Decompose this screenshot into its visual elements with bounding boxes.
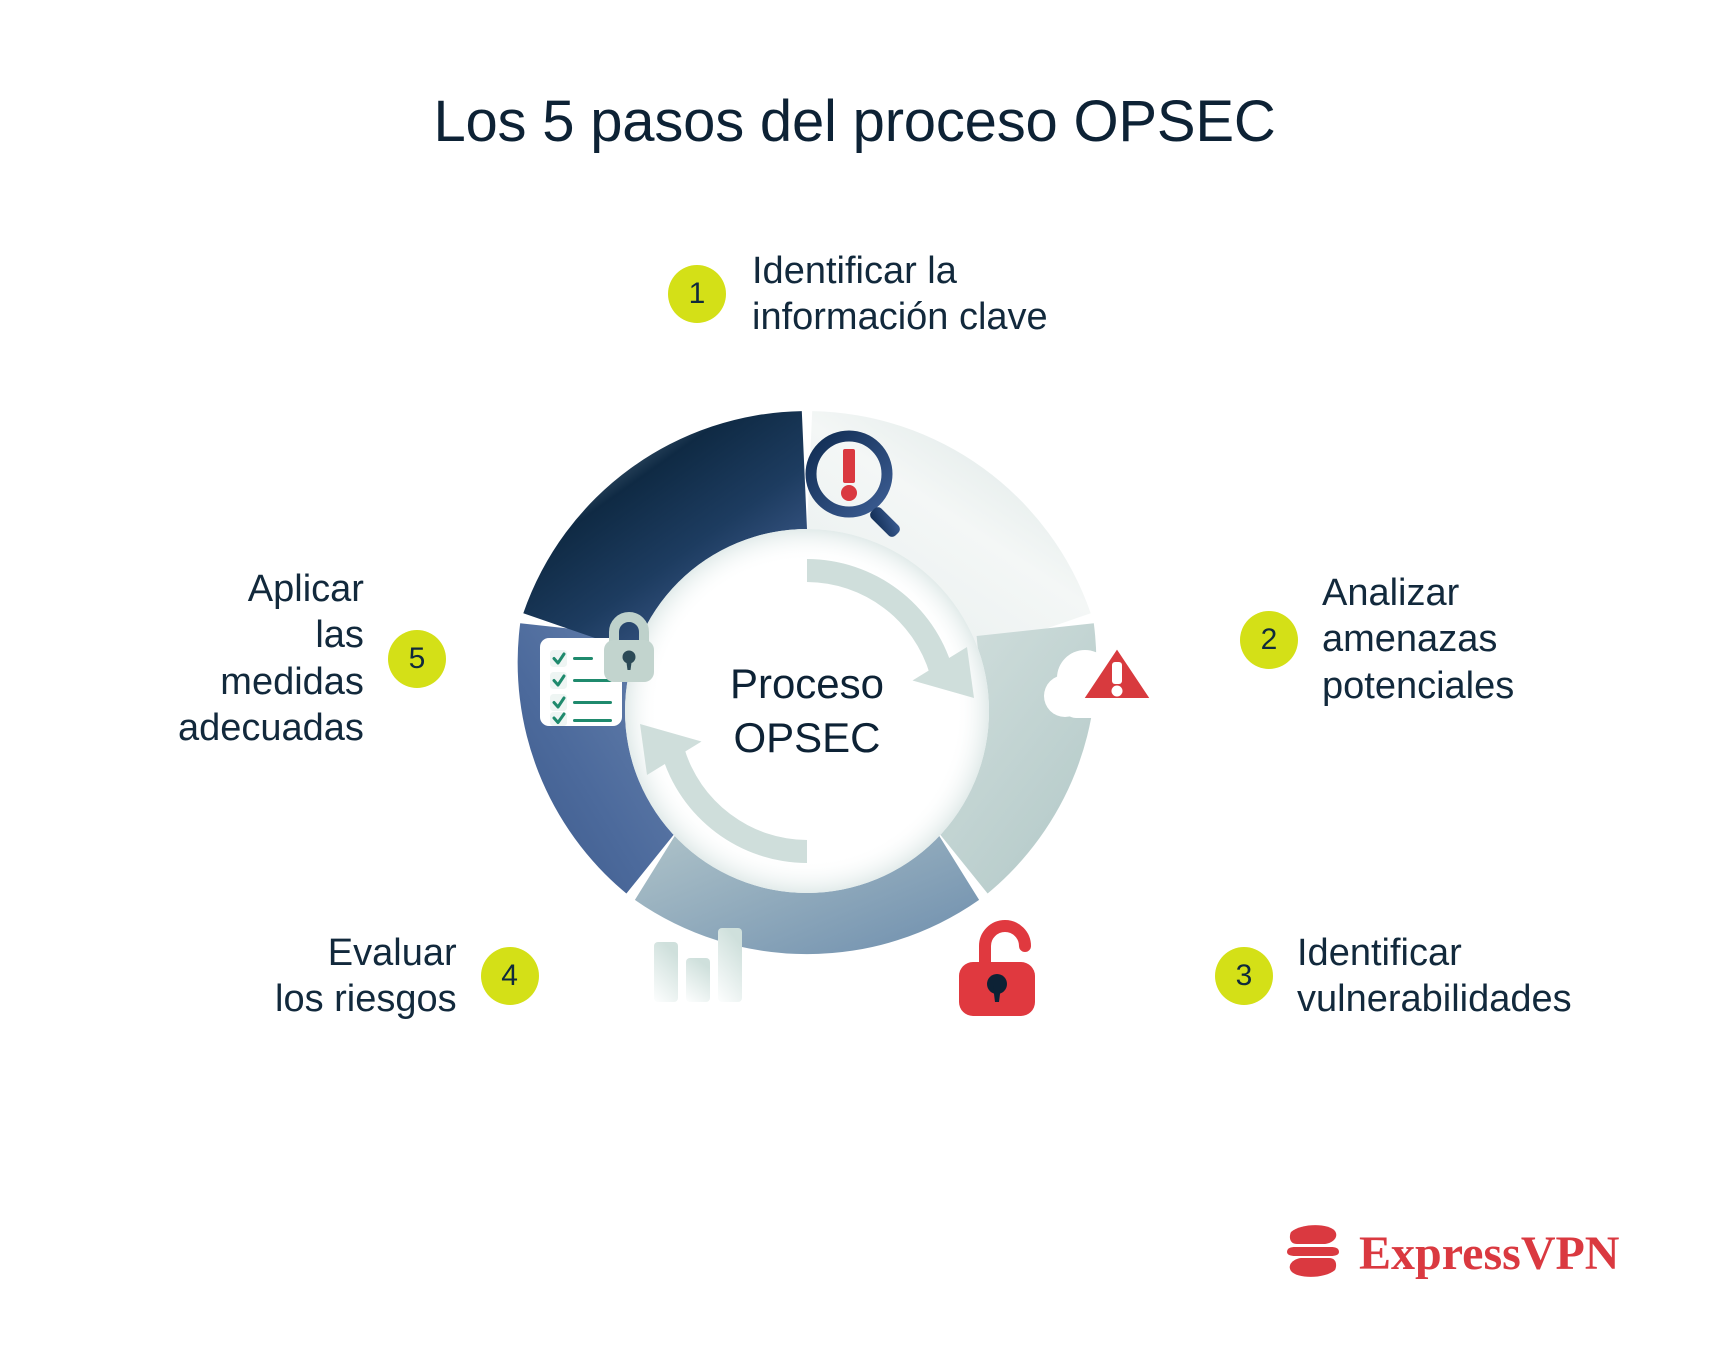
- page-title: Los 5 pasos del proceso OPSEC: [0, 88, 1709, 155]
- step-badge-5: 5: [388, 630, 446, 688]
- expressvpn-logo[interactable]: ExpressVPN: [1281, 1222, 1619, 1285]
- step-label-1: Identificar la información clave: [752, 248, 1048, 341]
- step-item-5[interactable]: Aplicar las medidas adecuadas 5: [178, 566, 446, 751]
- donut-center-shade: [625, 529, 989, 893]
- step-label-5: Aplicar las medidas adecuadas: [178, 566, 364, 751]
- cloud-warning-icon: [1043, 630, 1155, 731]
- step-badge-4: 4: [481, 947, 539, 1005]
- step-label-3: Identificar vulnerabilidades: [1297, 930, 1572, 1023]
- expressvpn-wordmark: ExpressVPN: [1359, 1230, 1619, 1278]
- step-label-4: Evaluar los riesgos: [275, 930, 457, 1023]
- step-item-1[interactable]: 1 Identificar la información clave: [668, 248, 1048, 341]
- step-item-3[interactable]: 3 Identificar vulnerabilidades: [1215, 930, 1572, 1023]
- step-badge-2: 2: [1240, 611, 1298, 669]
- checklist-lock-icon: [536, 608, 664, 735]
- bar-chart-icon: [650, 920, 746, 1011]
- step-item-2[interactable]: 2 Analizar amenazas potenciales: [1240, 570, 1514, 709]
- step-badge-1: 1: [668, 265, 726, 323]
- open-padlock-icon: [949, 918, 1057, 1027]
- expressvpn-logo-icon: [1281, 1222, 1345, 1285]
- step-item-4[interactable]: Evaluar los riesgos 4: [275, 930, 539, 1023]
- step-badge-3: 3: [1215, 947, 1273, 1005]
- magnifier-alert-icon: [800, 425, 918, 548]
- step-label-2: Analizar amenazas potenciales: [1322, 570, 1514, 709]
